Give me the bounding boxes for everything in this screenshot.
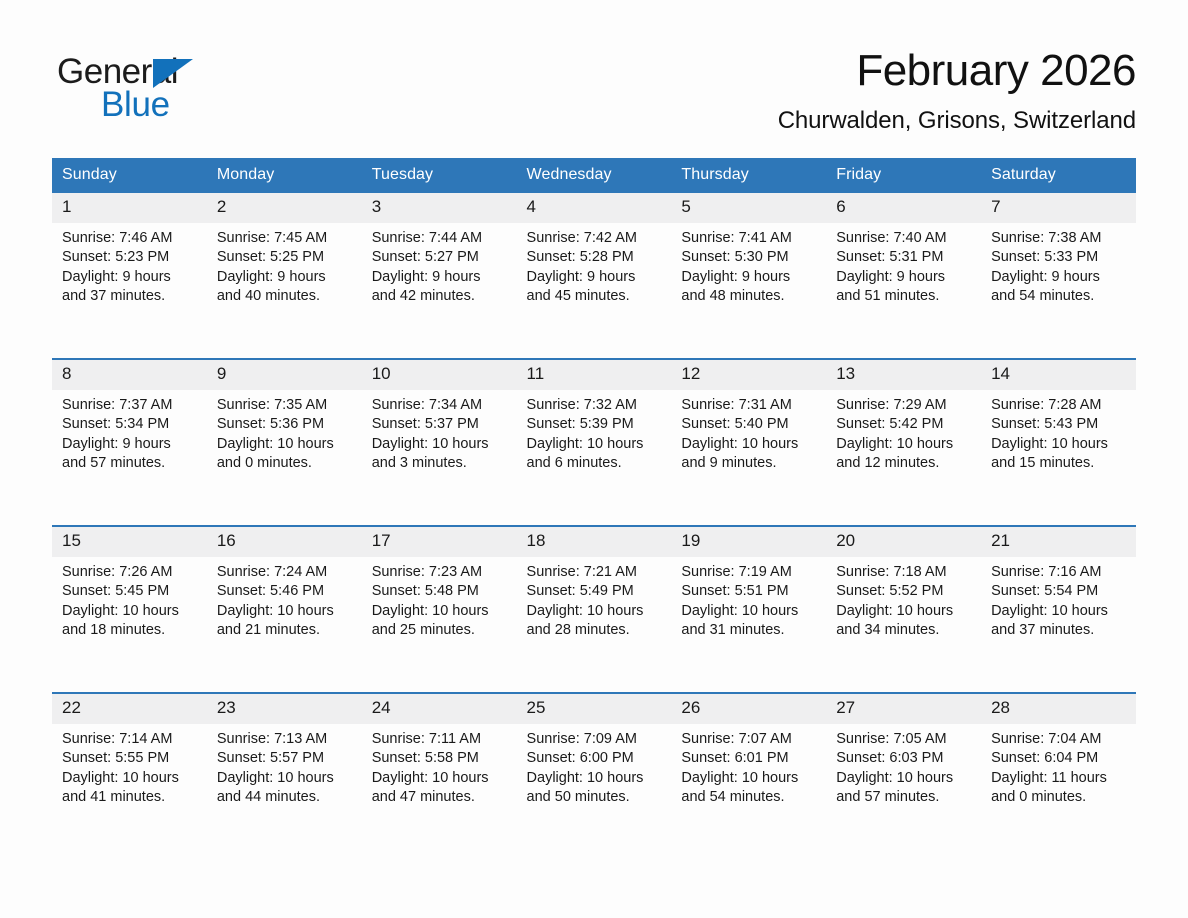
weekday-header-wednesday: Wednesday	[517, 158, 672, 193]
daylight-text-line2: and 40 minutes.	[217, 287, 356, 307]
daylight-text-line1: Daylight: 9 hours	[372, 268, 511, 288]
daylight-text-line1: Daylight: 9 hours	[62, 268, 201, 288]
daylight-text-line1: Daylight: 10 hours	[372, 769, 511, 789]
calendar-page: General Blue February 2026 Churwalden, G…	[0, 0, 1188, 918]
day-details: Sunrise: 7:21 AM Sunset: 5:49 PM Dayligh…	[517, 557, 672, 641]
day-number: 16	[207, 527, 362, 557]
sunset-text: Sunset: 5:37 PM	[372, 415, 511, 435]
sunrise-text: Sunrise: 7:38 AM	[991, 229, 1130, 249]
sunrise-text: Sunrise: 7:42 AM	[527, 229, 666, 249]
daylight-text-line2: and 34 minutes.	[836, 621, 975, 641]
general-blue-logo[interactable]: General Blue	[57, 46, 257, 118]
day-details: Sunrise: 7:32 AM Sunset: 5:39 PM Dayligh…	[517, 390, 672, 474]
daylight-text-line1: Daylight: 10 hours	[217, 435, 356, 455]
daylight-text-line2: and 28 minutes.	[527, 621, 666, 641]
daylight-text-line2: and 15 minutes.	[991, 454, 1130, 474]
sunset-text: Sunset: 5:30 PM	[681, 248, 820, 268]
sunset-text: Sunset: 5:49 PM	[527, 582, 666, 602]
daylight-text-line2: and 42 minutes.	[372, 287, 511, 307]
day-cell[interactable]: 11 Sunrise: 7:32 AM Sunset: 5:39 PM Dayl…	[517, 359, 672, 526]
day-number: 19	[671, 527, 826, 557]
day-cell[interactable]: 7 Sunrise: 7:38 AM Sunset: 5:33 PM Dayli…	[981, 193, 1136, 359]
sunset-text: Sunset: 5:51 PM	[681, 582, 820, 602]
sunrise-text: Sunrise: 7:46 AM	[62, 229, 201, 249]
day-details: Sunrise: 7:11 AM Sunset: 5:58 PM Dayligh…	[362, 724, 517, 808]
sunset-text: Sunset: 5:25 PM	[217, 248, 356, 268]
day-details: Sunrise: 7:04 AM Sunset: 6:04 PM Dayligh…	[981, 724, 1136, 808]
daylight-text-line2: and 48 minutes.	[681, 287, 820, 307]
sunset-text: Sunset: 5:27 PM	[372, 248, 511, 268]
daylight-text-line2: and 6 minutes.	[527, 454, 666, 474]
page-subtitle: Churwalden, Grisons, Switzerland	[257, 107, 1136, 136]
day-details: Sunrise: 7:05 AM Sunset: 6:03 PM Dayligh…	[826, 724, 981, 808]
daylight-text-line1: Daylight: 9 hours	[836, 268, 975, 288]
sunrise-text: Sunrise: 7:34 AM	[372, 396, 511, 416]
day-cell[interactable]: 5 Sunrise: 7:41 AM Sunset: 5:30 PM Dayli…	[671, 193, 826, 359]
day-cell[interactable]: 18 Sunrise: 7:21 AM Sunset: 5:49 PM Dayl…	[517, 526, 672, 693]
day-details: Sunrise: 7:18 AM Sunset: 5:52 PM Dayligh…	[826, 557, 981, 641]
logo-text-blue: Blue	[101, 87, 170, 122]
sunrise-text: Sunrise: 7:44 AM	[372, 229, 511, 249]
day-details: Sunrise: 7:26 AM Sunset: 5:45 PM Dayligh…	[52, 557, 207, 641]
sunrise-text: Sunrise: 7:19 AM	[681, 563, 820, 583]
daylight-text-line1: Daylight: 11 hours	[991, 769, 1130, 789]
daylight-text-line2: and 18 minutes.	[62, 621, 201, 641]
daylight-text-line1: Daylight: 10 hours	[681, 769, 820, 789]
daylight-text-line2: and 54 minutes.	[991, 287, 1130, 307]
sunset-text: Sunset: 5:39 PM	[527, 415, 666, 435]
day-details: Sunrise: 7:09 AM Sunset: 6:00 PM Dayligh…	[517, 724, 672, 808]
day-cell[interactable]: 10 Sunrise: 7:34 AM Sunset: 5:37 PM Dayl…	[362, 359, 517, 526]
day-number: 17	[362, 527, 517, 557]
sunrise-text: Sunrise: 7:04 AM	[991, 730, 1130, 750]
day-cell[interactable]: 2 Sunrise: 7:45 AM Sunset: 5:25 PM Dayli…	[207, 193, 362, 359]
day-number: 25	[517, 694, 672, 724]
daylight-text-line1: Daylight: 10 hours	[527, 769, 666, 789]
sunset-text: Sunset: 6:00 PM	[527, 749, 666, 769]
day-cell[interactable]: 1 Sunrise: 7:46 AM Sunset: 5:23 PM Dayli…	[52, 193, 207, 359]
triangle-icon	[153, 59, 193, 88]
sunset-text: Sunset: 5:31 PM	[836, 248, 975, 268]
sunset-text: Sunset: 5:54 PM	[991, 582, 1130, 602]
week-row: 1 Sunrise: 7:46 AM Sunset: 5:23 PM Dayli…	[52, 193, 1136, 359]
day-cell[interactable]: 16 Sunrise: 7:24 AM Sunset: 5:46 PM Dayl…	[207, 526, 362, 693]
sunrise-text: Sunrise: 7:14 AM	[62, 730, 201, 750]
sunrise-text: Sunrise: 7:05 AM	[836, 730, 975, 750]
calendar-header-row: Sunday Monday Tuesday Wednesday Thursday…	[52, 158, 1136, 193]
day-cell[interactable]: 8 Sunrise: 7:37 AM Sunset: 5:34 PM Dayli…	[52, 359, 207, 526]
daylight-text-line2: and 57 minutes.	[836, 788, 975, 808]
day-number: 28	[981, 694, 1136, 724]
day-cell[interactable]: 23 Sunrise: 7:13 AM Sunset: 5:57 PM Dayl…	[207, 693, 362, 859]
day-cell[interactable]: 26 Sunrise: 7:07 AM Sunset: 6:01 PM Dayl…	[671, 693, 826, 859]
daylight-text-line1: Daylight: 9 hours	[527, 268, 666, 288]
sunset-text: Sunset: 5:23 PM	[62, 248, 201, 268]
daylight-text-line1: Daylight: 9 hours	[62, 435, 201, 455]
day-number: 12	[671, 360, 826, 390]
sunrise-text: Sunrise: 7:35 AM	[217, 396, 356, 416]
day-details: Sunrise: 7:07 AM Sunset: 6:01 PM Dayligh…	[671, 724, 826, 808]
day-details: Sunrise: 7:24 AM Sunset: 5:46 PM Dayligh…	[207, 557, 362, 641]
daylight-text-line2: and 37 minutes.	[62, 287, 201, 307]
sunrise-text: Sunrise: 7:21 AM	[527, 563, 666, 583]
day-number: 3	[362, 193, 517, 223]
day-details: Sunrise: 7:37 AM Sunset: 5:34 PM Dayligh…	[52, 390, 207, 474]
day-number: 21	[981, 527, 1136, 557]
day-details: Sunrise: 7:14 AM Sunset: 5:55 PM Dayligh…	[52, 724, 207, 808]
daylight-text-line2: and 44 minutes.	[217, 788, 356, 808]
day-number: 18	[517, 527, 672, 557]
sunrise-sunset-calendar-table: Sunday Monday Tuesday Wednesday Thursday…	[52, 158, 1136, 859]
daylight-text-line2: and 9 minutes.	[681, 454, 820, 474]
day-details: Sunrise: 7:23 AM Sunset: 5:48 PM Dayligh…	[362, 557, 517, 641]
day-number: 20	[826, 527, 981, 557]
day-details: Sunrise: 7:28 AM Sunset: 5:43 PM Dayligh…	[981, 390, 1136, 474]
day-cell[interactable]: 9 Sunrise: 7:35 AM Sunset: 5:36 PM Dayli…	[207, 359, 362, 526]
sunset-text: Sunset: 5:34 PM	[62, 415, 201, 435]
daylight-text-line2: and 21 minutes.	[217, 621, 356, 641]
sunset-text: Sunset: 5:28 PM	[527, 248, 666, 268]
day-number: 5	[671, 193, 826, 223]
daylight-text-line1: Daylight: 10 hours	[681, 602, 820, 622]
day-number: 10	[362, 360, 517, 390]
sunrise-text: Sunrise: 7:37 AM	[62, 396, 201, 416]
day-cell[interactable]: 20 Sunrise: 7:18 AM Sunset: 5:52 PM Dayl…	[826, 526, 981, 693]
day-number: 4	[517, 193, 672, 223]
day-cell[interactable]: 15 Sunrise: 7:26 AM Sunset: 5:45 PM Dayl…	[52, 526, 207, 693]
day-details: Sunrise: 7:46 AM Sunset: 5:23 PM Dayligh…	[52, 223, 207, 307]
daylight-text-line1: Daylight: 10 hours	[836, 435, 975, 455]
sunset-text: Sunset: 5:55 PM	[62, 749, 201, 769]
sunrise-text: Sunrise: 7:45 AM	[217, 229, 356, 249]
daylight-text-line2: and 25 minutes.	[372, 621, 511, 641]
daylight-text-line1: Daylight: 10 hours	[836, 602, 975, 622]
day-number: 11	[517, 360, 672, 390]
day-number: 2	[207, 193, 362, 223]
daylight-text-line1: Daylight: 10 hours	[681, 435, 820, 455]
day-number: 27	[826, 694, 981, 724]
sunrise-text: Sunrise: 7:07 AM	[681, 730, 820, 750]
day-number: 1	[52, 193, 207, 223]
sunset-text: Sunset: 5:45 PM	[62, 582, 201, 602]
day-details: Sunrise: 7:13 AM Sunset: 5:57 PM Dayligh…	[207, 724, 362, 808]
daylight-text-line1: Daylight: 10 hours	[991, 435, 1130, 455]
sunrise-text: Sunrise: 7:13 AM	[217, 730, 356, 750]
day-cell[interactable]: 27 Sunrise: 7:05 AM Sunset: 6:03 PM Dayl…	[826, 693, 981, 859]
day-number: 23	[207, 694, 362, 724]
sunset-text: Sunset: 5:57 PM	[217, 749, 356, 769]
daylight-text-line1: Daylight: 9 hours	[217, 268, 356, 288]
day-cell[interactable]: 22 Sunrise: 7:14 AM Sunset: 5:55 PM Dayl…	[52, 693, 207, 859]
weekday-header-monday: Monday	[207, 158, 362, 193]
sunrise-text: Sunrise: 7:31 AM	[681, 396, 820, 416]
daylight-text-line1: Daylight: 10 hours	[217, 769, 356, 789]
sunset-text: Sunset: 5:33 PM	[991, 248, 1130, 268]
sunrise-text: Sunrise: 7:11 AM	[372, 730, 511, 750]
weekday-header-sunday: Sunday	[52, 158, 207, 193]
weekday-header-saturday: Saturday	[981, 158, 1136, 193]
sunrise-text: Sunrise: 7:16 AM	[991, 563, 1130, 583]
day-details: Sunrise: 7:29 AM Sunset: 5:42 PM Dayligh…	[826, 390, 981, 474]
title-block: February 2026 Churwalden, Grisons, Switz…	[257, 46, 1136, 136]
daylight-text-line2: and 0 minutes.	[991, 788, 1130, 808]
sunset-text: Sunset: 5:58 PM	[372, 749, 511, 769]
daylight-text-line2: and 37 minutes.	[991, 621, 1130, 641]
day-cell[interactable]: 19 Sunrise: 7:19 AM Sunset: 5:51 PM Dayl…	[671, 526, 826, 693]
day-number: 15	[52, 527, 207, 557]
day-cell[interactable]: 24 Sunrise: 7:11 AM Sunset: 5:58 PM Dayl…	[362, 693, 517, 859]
week-row: 8 Sunrise: 7:37 AM Sunset: 5:34 PM Dayli…	[52, 359, 1136, 526]
daylight-text-line2: and 45 minutes.	[527, 287, 666, 307]
sunrise-text: Sunrise: 7:26 AM	[62, 563, 201, 583]
day-cell[interactable]: 12 Sunrise: 7:31 AM Sunset: 5:40 PM Dayl…	[671, 359, 826, 526]
daylight-text-line2: and 41 minutes.	[62, 788, 201, 808]
daylight-text-line1: Daylight: 10 hours	[372, 435, 511, 455]
sunset-text: Sunset: 5:52 PM	[836, 582, 975, 602]
daylight-text-line2: and 57 minutes.	[62, 454, 201, 474]
sunset-text: Sunset: 5:48 PM	[372, 582, 511, 602]
sunset-text: Sunset: 5:43 PM	[991, 415, 1130, 435]
day-cell[interactable]: 13 Sunrise: 7:29 AM Sunset: 5:42 PM Dayl…	[826, 359, 981, 526]
day-number: 14	[981, 360, 1136, 390]
page-header: General Blue February 2026 Churwalden, G…	[0, 0, 1188, 136]
day-details: Sunrise: 7:42 AM Sunset: 5:28 PM Dayligh…	[517, 223, 672, 307]
daylight-text-line1: Daylight: 10 hours	[372, 602, 511, 622]
daylight-text-line2: and 51 minutes.	[836, 287, 975, 307]
sunrise-text: Sunrise: 7:32 AM	[527, 396, 666, 416]
day-details: Sunrise: 7:35 AM Sunset: 5:36 PM Dayligh…	[207, 390, 362, 474]
day-cell[interactable]: 6 Sunrise: 7:40 AM Sunset: 5:31 PM Dayli…	[826, 193, 981, 359]
day-details: Sunrise: 7:40 AM Sunset: 5:31 PM Dayligh…	[826, 223, 981, 307]
day-number: 13	[826, 360, 981, 390]
daylight-text-line2: and 47 minutes.	[372, 788, 511, 808]
daylight-text-line2: and 3 minutes.	[372, 454, 511, 474]
day-number: 9	[207, 360, 362, 390]
sunrise-text: Sunrise: 7:41 AM	[681, 229, 820, 249]
sunrise-text: Sunrise: 7:09 AM	[527, 730, 666, 750]
daylight-text-line1: Daylight: 9 hours	[681, 268, 820, 288]
sunset-text: Sunset: 6:03 PM	[836, 749, 975, 769]
sunset-text: Sunset: 5:42 PM	[836, 415, 975, 435]
day-details: Sunrise: 7:45 AM Sunset: 5:25 PM Dayligh…	[207, 223, 362, 307]
sunset-text: Sunset: 6:04 PM	[991, 749, 1130, 769]
sunrise-text: Sunrise: 7:23 AM	[372, 563, 511, 583]
sunrise-text: Sunrise: 7:18 AM	[836, 563, 975, 583]
day-number: 7	[981, 193, 1136, 223]
weekday-header-thursday: Thursday	[671, 158, 826, 193]
daylight-text-line1: Daylight: 10 hours	[527, 602, 666, 622]
day-cell[interactable]: 14 Sunrise: 7:28 AM Sunset: 5:43 PM Dayl…	[981, 359, 1136, 526]
sunrise-text: Sunrise: 7:29 AM	[836, 396, 975, 416]
day-cell[interactable]: 28 Sunrise: 7:04 AM Sunset: 6:04 PM Dayl…	[981, 693, 1136, 859]
week-row: 22 Sunrise: 7:14 AM Sunset: 5:55 PM Dayl…	[52, 693, 1136, 859]
day-details: Sunrise: 7:41 AM Sunset: 5:30 PM Dayligh…	[671, 223, 826, 307]
daylight-text-line1: Daylight: 10 hours	[836, 769, 975, 789]
day-details: Sunrise: 7:38 AM Sunset: 5:33 PM Dayligh…	[981, 223, 1136, 307]
weekday-header-tuesday: Tuesday	[362, 158, 517, 193]
day-cell[interactable]: 4 Sunrise: 7:42 AM Sunset: 5:28 PM Dayli…	[517, 193, 672, 359]
daylight-text-line2: and 12 minutes.	[836, 454, 975, 474]
sunrise-text: Sunrise: 7:28 AM	[991, 396, 1130, 416]
day-cell[interactable]: 21 Sunrise: 7:16 AM Sunset: 5:54 PM Dayl…	[981, 526, 1136, 693]
daylight-text-line1: Daylight: 10 hours	[217, 602, 356, 622]
daylight-text-line1: Daylight: 10 hours	[527, 435, 666, 455]
calendar-body: 1 Sunrise: 7:46 AM Sunset: 5:23 PM Dayli…	[52, 193, 1136, 859]
day-number: 22	[52, 694, 207, 724]
week-row: 15 Sunrise: 7:26 AM Sunset: 5:45 PM Dayl…	[52, 526, 1136, 693]
daylight-text-line2: and 31 minutes.	[681, 621, 820, 641]
sunrise-text: Sunrise: 7:40 AM	[836, 229, 975, 249]
day-number: 24	[362, 694, 517, 724]
day-cell[interactable]: 3 Sunrise: 7:44 AM Sunset: 5:27 PM Dayli…	[362, 193, 517, 359]
page-title: February 2026	[257, 48, 1136, 94]
day-details: Sunrise: 7:34 AM Sunset: 5:37 PM Dayligh…	[362, 390, 517, 474]
daylight-text-line1: Daylight: 9 hours	[991, 268, 1130, 288]
sunset-text: Sunset: 5:36 PM	[217, 415, 356, 435]
sunset-text: Sunset: 5:46 PM	[217, 582, 356, 602]
day-number: 6	[826, 193, 981, 223]
daylight-text-line1: Daylight: 10 hours	[62, 602, 201, 622]
day-details: Sunrise: 7:16 AM Sunset: 5:54 PM Dayligh…	[981, 557, 1136, 641]
day-cell[interactable]: 17 Sunrise: 7:23 AM Sunset: 5:48 PM Dayl…	[362, 526, 517, 693]
daylight-text-line1: Daylight: 10 hours	[62, 769, 201, 789]
day-details: Sunrise: 7:44 AM Sunset: 5:27 PM Dayligh…	[362, 223, 517, 307]
daylight-text-line2: and 54 minutes.	[681, 788, 820, 808]
daylight-text-line1: Daylight: 10 hours	[991, 602, 1130, 622]
day-details: Sunrise: 7:19 AM Sunset: 5:51 PM Dayligh…	[671, 557, 826, 641]
day-number: 26	[671, 694, 826, 724]
daylight-text-line2: and 0 minutes.	[217, 454, 356, 474]
sunset-text: Sunset: 6:01 PM	[681, 749, 820, 769]
day-number: 8	[52, 360, 207, 390]
day-cell[interactable]: 25 Sunrise: 7:09 AM Sunset: 6:00 PM Dayl…	[517, 693, 672, 859]
sunrise-text: Sunrise: 7:24 AM	[217, 563, 356, 583]
sunset-text: Sunset: 5:40 PM	[681, 415, 820, 435]
weekday-header-friday: Friday	[826, 158, 981, 193]
daylight-text-line2: and 50 minutes.	[527, 788, 666, 808]
day-details: Sunrise: 7:31 AM Sunset: 5:40 PM Dayligh…	[671, 390, 826, 474]
